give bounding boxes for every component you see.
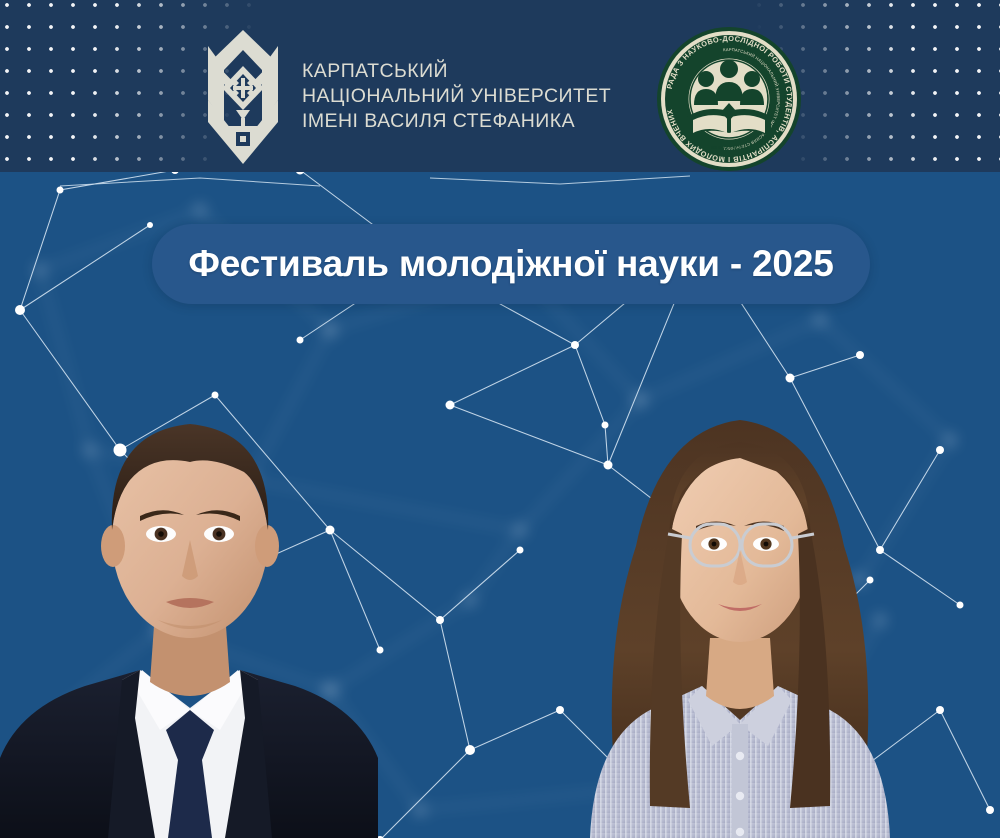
poster-canvas: Фестиваль молодіжної науки - 2025 — [0, 0, 1000, 838]
page-title: Фестиваль молодіжної науки - 2025 — [188, 243, 833, 285]
university-name-line2: НАЦІОНАЛЬНИЙ УНІВЕРСИТЕТ — [302, 84, 611, 109]
seal-city: Івано-Франківськ — [709, 145, 749, 151]
header-band: КАРПАТСЬКИЙ НАЦІОНАЛЬНИЙ УНІВЕРСИТЕТ ІМЕ… — [0, 0, 1000, 172]
university-logo[interactable]: КАРПАТСЬКИЙ НАЦІОНАЛЬНИЙ УНІВЕРСИТЕТ ІМЕ… — [202, 26, 611, 166]
university-name: КАРПАТСЬКИЙ НАЦІОНАЛЬНИЙ УНІВЕРСИТЕТ ІМЕ… — [302, 59, 611, 134]
portrait-woman — [530, 338, 950, 838]
council-seal[interactable]: РАДА З НАУКОВО-ДОСЛІДНОЇ РОБОТИ СТУДЕНТІ… — [655, 25, 803, 172]
portrait-man — [0, 358, 390, 838]
university-name-line1: КАРПАТСЬКИЙ — [302, 59, 611, 84]
university-name-line3: ІМЕНІ ВАСИЛЯ СТЕФАНИКА — [302, 109, 611, 134]
title-banner: Фестиваль молодіжної науки - 2025 — [152, 224, 870, 304]
shield-crest-icon — [202, 26, 284, 166]
